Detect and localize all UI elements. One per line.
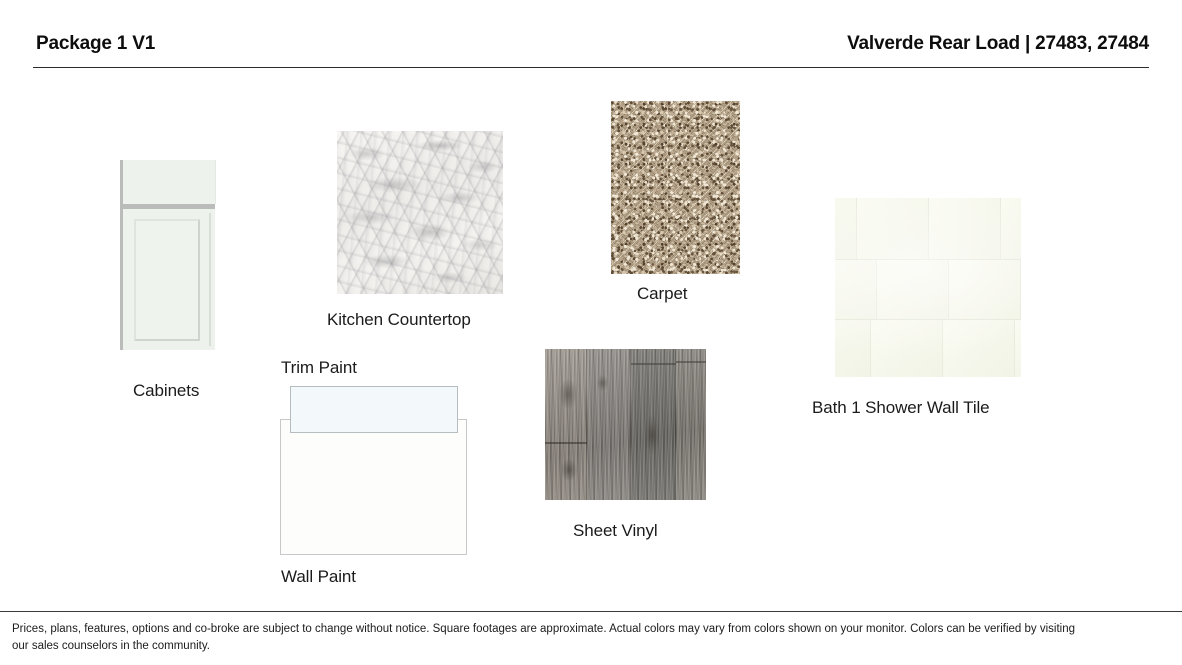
tile-unit [1015, 320, 1021, 377]
label-bath-1-shower-wall-tile: Bath 1 Shower Wall Tile [812, 398, 990, 418]
carpet-swatch[interactable] [611, 101, 740, 274]
wood-knot [645, 415, 659, 455]
kitchen-countertop-swatch[interactable] [337, 131, 503, 294]
sheet-vinyl-swatch[interactable] [545, 349, 706, 500]
tile-unit [949, 260, 1021, 320]
trim-paint-swatch[interactable] [290, 386, 458, 433]
vinyl-plank-seam [631, 363, 676, 365]
tile-unit [835, 198, 857, 260]
label-cabinets: Cabinets [133, 381, 199, 401]
vinyl-plank-seam [676, 361, 706, 363]
disclaimer-text: Prices, plans, features, options and co-… [12, 621, 1082, 655]
label-trim-paint: Trim Paint [281, 358, 357, 378]
label-kitchen-countertop: Kitchen Countertop [327, 310, 471, 330]
label-sheet-vinyl: Sheet Vinyl [573, 521, 658, 541]
cabinet-drawer-front [123, 160, 216, 204]
header-divider [33, 67, 1149, 68]
vinyl-plank [587, 349, 631, 500]
wood-knot [561, 459, 577, 481]
footer-divider [0, 611, 1182, 612]
tile-unit [1001, 198, 1021, 260]
page-header: Package 1 V1 Valverde Rear Load | 27483,… [0, 0, 1182, 72]
cabinet-door-swatch[interactable] [120, 160, 215, 350]
cabinet-door-rail [209, 213, 211, 346]
wood-knot [597, 375, 608, 391]
tile-unit [943, 320, 1015, 377]
label-wall-paint: Wall Paint [281, 567, 356, 587]
tile-unit [871, 320, 943, 377]
tile-unit [835, 260, 877, 320]
wall-paint-swatch[interactable] [280, 419, 467, 555]
cabinet-door-front [123, 209, 215, 350]
label-carpet: Carpet [637, 284, 687, 304]
tile-unit [835, 320, 871, 377]
cabinet-door-panel [134, 219, 200, 341]
tile-unit [929, 198, 1001, 260]
tile-unit [877, 260, 949, 320]
vinyl-plank-seam [545, 442, 587, 444]
community-plan-title: Valverde Rear Load | 27483, 27484 [847, 33, 1149, 55]
vinyl-plank [676, 349, 706, 500]
wood-knot [559, 379, 577, 409]
tile-unit [857, 198, 929, 260]
shower-wall-tile-swatch[interactable] [835, 198, 1021, 377]
package-title: Package 1 V1 [36, 33, 155, 55]
